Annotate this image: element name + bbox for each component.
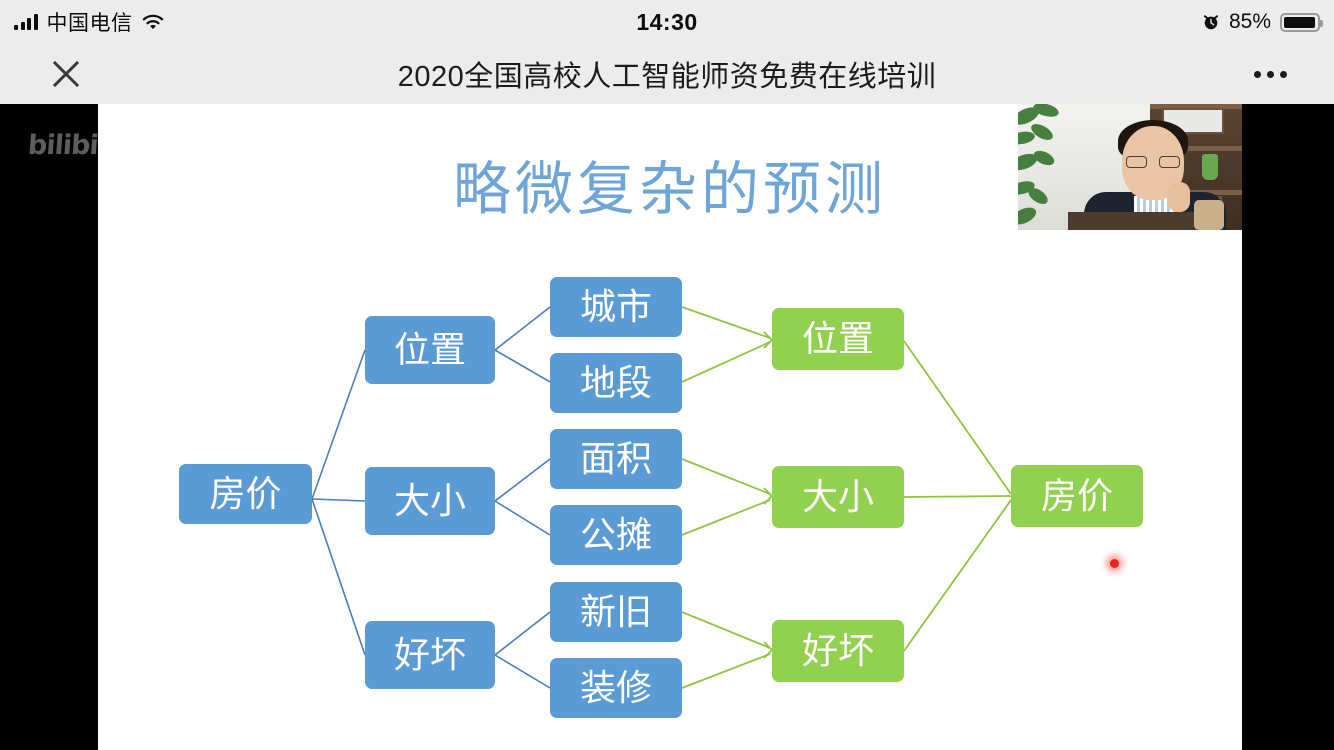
node-blue-district[interactable]: 地段 bbox=[550, 353, 682, 413]
more-options-icon bbox=[1254, 71, 1261, 78]
alarm-clock-icon bbox=[1202, 13, 1220, 31]
presenter-hand bbox=[1168, 182, 1190, 212]
node-blue-location[interactable]: 位置 bbox=[365, 316, 495, 384]
node-blue-shared-area[interactable]: 公摊 bbox=[550, 505, 682, 565]
laser-pointer-dot bbox=[1110, 559, 1119, 568]
battery-icon bbox=[1280, 13, 1320, 32]
status-bar: 中国电信 14:30 85% bbox=[0, 0, 1334, 44]
node-blue-decoration[interactable]: 装修 bbox=[550, 658, 682, 718]
node-green-root[interactable]: 房价 bbox=[1011, 465, 1143, 527]
battery-percent-label: 85% bbox=[1229, 10, 1271, 34]
node-green-size[interactable]: 大小 bbox=[772, 466, 904, 528]
node-blue-root[interactable]: 房价 bbox=[179, 464, 312, 524]
more-options-button[interactable] bbox=[1240, 44, 1300, 104]
video-player-stage[interactable]: bilibili 略微复杂的预测 bbox=[0, 104, 1334, 750]
page-title: 2020全国高校人工智能师资免费在线培训 bbox=[0, 44, 1334, 104]
glasses-icon bbox=[1126, 156, 1180, 168]
more-options-icon bbox=[1267, 71, 1274, 78]
more-options-icon bbox=[1280, 71, 1287, 78]
status-bar-clock: 14:30 bbox=[0, 0, 1334, 44]
node-blue-city[interactable]: 城市 bbox=[550, 277, 682, 337]
presenter-camera-video[interactable] bbox=[1018, 104, 1242, 230]
status-bar-right: 85% bbox=[1202, 0, 1320, 44]
node-blue-quality[interactable]: 好坏 bbox=[365, 621, 495, 689]
node-blue-size[interactable]: 大小 bbox=[365, 467, 495, 535]
node-blue-age[interactable]: 新旧 bbox=[550, 582, 682, 642]
phone-screen: 中国电信 14:30 85% bbox=[0, 0, 1334, 750]
node-blue-area[interactable]: 面积 bbox=[550, 429, 682, 489]
node-green-location[interactable]: 位置 bbox=[772, 308, 904, 370]
navigation-bar: 2020全国高校人工智能师资免费在线培训 bbox=[0, 44, 1334, 104]
node-green-quality[interactable]: 好坏 bbox=[772, 620, 904, 682]
tea-cup bbox=[1194, 200, 1224, 230]
